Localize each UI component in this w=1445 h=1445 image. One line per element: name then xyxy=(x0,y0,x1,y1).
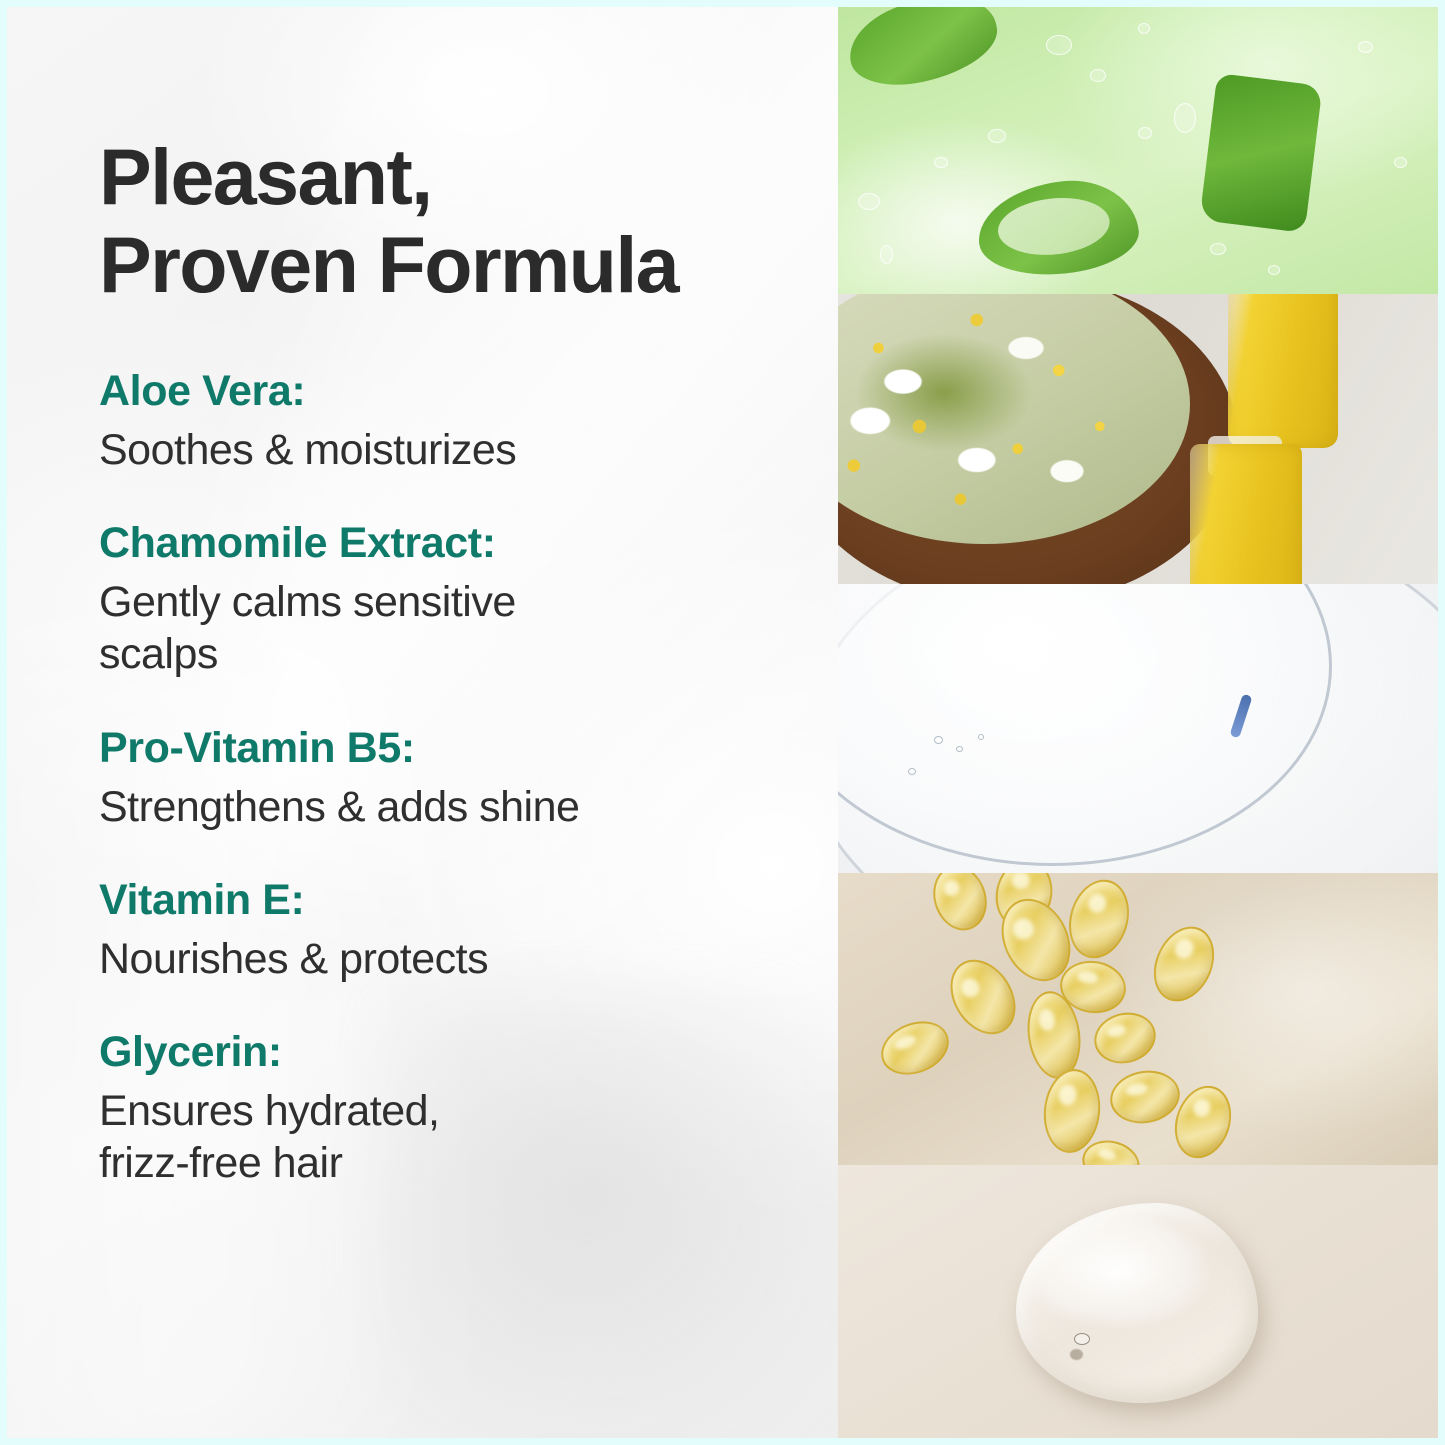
chamomile-flowers-and-oil-photo xyxy=(838,294,1438,584)
ingredient-name-pro-vitamin-b5: Pro-Vitamin B5: xyxy=(99,723,799,774)
oil-bottle xyxy=(1228,294,1338,448)
ingredient-description-aloe-vera: Soothes & moisturizes xyxy=(99,424,799,476)
ingredient-name-glycerin: Glycerin: xyxy=(99,1027,799,1078)
gel-bubble xyxy=(988,129,1006,143)
gel-bubble xyxy=(858,193,880,210)
ingredient-description-vitamin-e: Nourishes & protects xyxy=(99,933,799,985)
softgel-capsule xyxy=(873,1012,957,1085)
aloe-piece xyxy=(974,174,1143,282)
gel-bubble xyxy=(934,157,948,168)
gel-bubble xyxy=(1090,69,1106,82)
ingredient-description-chamomile-extract: Gently calms sensitive scalps xyxy=(99,576,799,681)
vitamin-e-capsules-photo xyxy=(838,873,1438,1165)
aloe-piece xyxy=(841,7,1004,96)
gel-bubble xyxy=(1268,265,1280,275)
ingredient-name-chamomile-extract: Chamomile Extract: xyxy=(99,518,799,569)
gel-bubble xyxy=(1138,23,1150,34)
ingredient-image-column xyxy=(838,7,1438,1438)
oil-bottle xyxy=(1190,444,1302,584)
clear-gel-dish-photo xyxy=(838,584,1438,873)
droplet-bubble xyxy=(1074,1333,1090,1345)
gel-bubble xyxy=(880,245,893,264)
gel-bubble xyxy=(1394,157,1407,168)
text-block: Pleasant, Proven Formula Aloe Vera: Soot… xyxy=(99,133,799,1190)
aloe-piece xyxy=(1199,73,1322,233)
gel-bubble xyxy=(1046,35,1072,55)
infographic-frame: Pleasant, Proven Formula Aloe Vera: Soot… xyxy=(0,0,1445,1445)
glycerin-droplet-photo xyxy=(838,1165,1438,1438)
softgel-capsule xyxy=(1106,1065,1184,1128)
gel-bubble xyxy=(1174,103,1196,133)
gel-bubble xyxy=(956,746,963,752)
ingredient-item-vitamin-e: Vitamin E: Nourishes & protects xyxy=(99,875,799,985)
gel-droplet xyxy=(1016,1203,1258,1403)
softgel-capsule xyxy=(1060,873,1138,965)
gel-bubble xyxy=(978,734,984,740)
ingredient-item-pro-vitamin-b5: Pro-Vitamin B5: Strengthens & adds shine xyxy=(99,723,799,833)
ingredient-name-aloe-vera: Aloe Vera: xyxy=(99,366,799,417)
gel-bubble xyxy=(908,768,916,775)
ingredient-name-vitamin-e: Vitamin E: xyxy=(99,875,799,926)
ingredient-description-glycerin: Ensures hydrated, frizz-free hair xyxy=(99,1085,799,1190)
page-title: Pleasant, Proven Formula xyxy=(99,133,799,310)
ingredient-text-column: Pleasant, Proven Formula Aloe Vera: Soot… xyxy=(7,7,838,1438)
ingredient-item-chamomile-extract: Chamomile Extract: Gently calms sensitiv… xyxy=(99,518,799,681)
ingredient-description-pro-vitamin-b5: Strengthens & adds shine xyxy=(99,781,799,833)
infographic-canvas: Pleasant, Proven Formula Aloe Vera: Soot… xyxy=(7,7,1438,1438)
aloe-vera-gel-photo xyxy=(838,7,1438,294)
softgel-capsule xyxy=(925,873,995,937)
softgel-capsule xyxy=(1089,1006,1161,1070)
gel-bubble xyxy=(1358,41,1373,53)
ingredient-item-aloe-vera: Aloe Vera: Soothes & moisturizes xyxy=(99,366,799,476)
gel-bubble xyxy=(1138,127,1152,139)
softgel-capsule xyxy=(1143,917,1226,1011)
gel-bubble xyxy=(934,736,943,744)
ingredient-item-glycerin: Glycerin: Ensures hydrated, frizz-free h… xyxy=(99,1027,799,1190)
gel-bubble xyxy=(1210,243,1226,255)
droplet-bubble-shadow xyxy=(1070,1349,1083,1360)
